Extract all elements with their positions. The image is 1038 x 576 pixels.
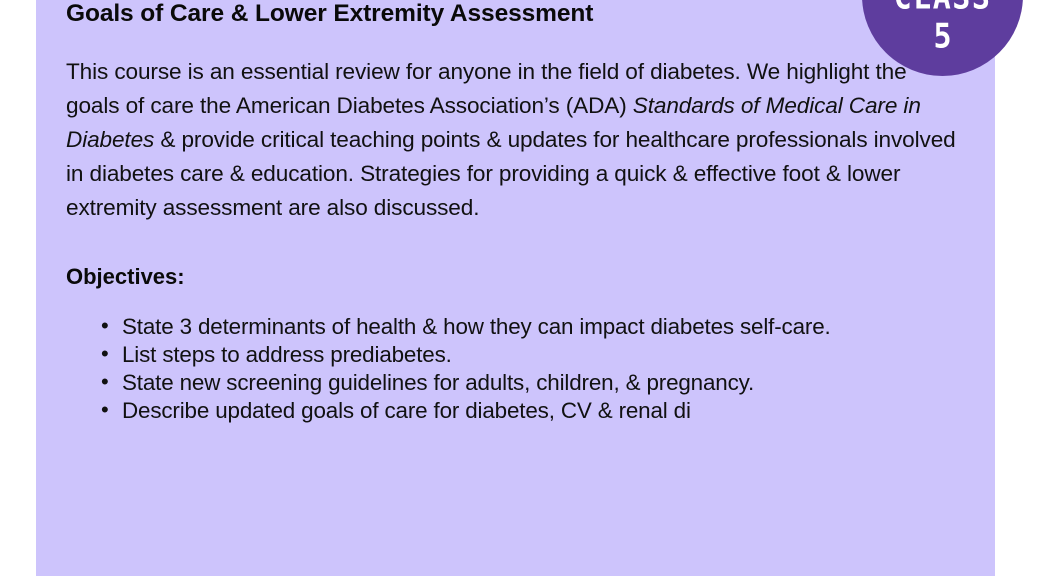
description-part-two: & provide critical teaching points & upd… xyxy=(66,127,956,220)
course-description: This course is an essential review for a… xyxy=(66,29,965,225)
list-item: List steps to address prediabetes. xyxy=(122,341,965,369)
list-item: Describe updated goals of care for diabe… xyxy=(122,397,965,425)
objectives-list: State 3 determinants of health & how the… xyxy=(66,291,965,425)
list-item: State 3 determinants of health & how the… xyxy=(122,313,965,341)
course-card: Goals of Care & Lower Extremity Assessme… xyxy=(36,0,995,576)
class-badge-number: 5 xyxy=(933,9,951,55)
objectives-heading: Objectives: xyxy=(66,225,965,291)
list-item: State new screening guidelines for adult… xyxy=(122,369,965,397)
card-content: Goals of Care & Lower Extremity Assessme… xyxy=(36,0,995,576)
page-title: Goals of Care & Lower Extremity Assessme… xyxy=(66,0,856,29)
course-card-screenshot: Goals of Care & Lower Extremity Assessme… xyxy=(0,0,1038,576)
